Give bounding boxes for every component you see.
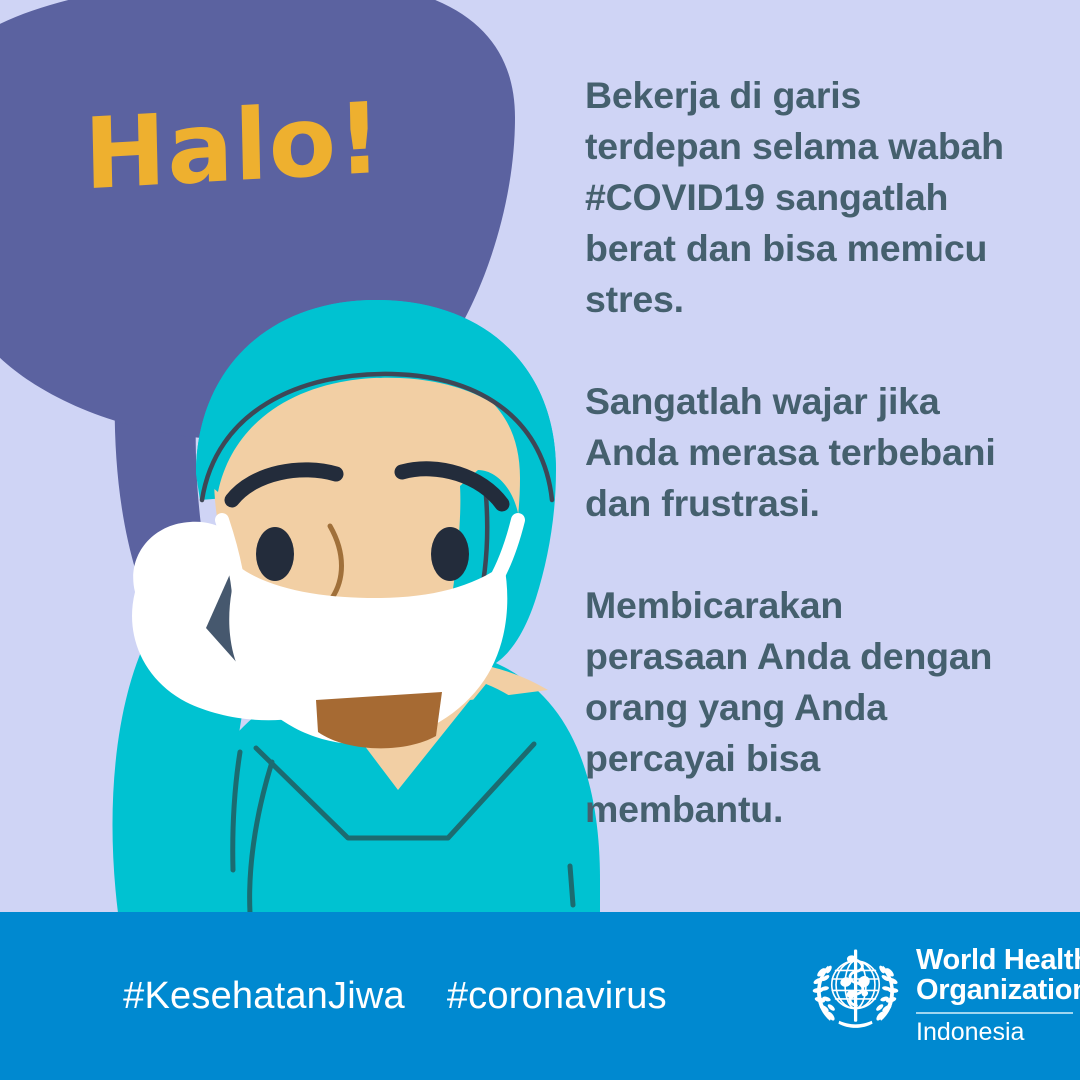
who-country-label: Indonesia	[916, 1019, 1080, 1046]
who-line-2: Organization	[916, 975, 1080, 1005]
speech-bubble-text: Halo!	[83, 90, 383, 205]
shoulder-seam-right	[570, 866, 573, 905]
message-text-column: Bekerja di garis terdepan selama wabah #…	[585, 70, 1045, 835]
who-emblem-icon	[808, 941, 903, 1036]
paragraph-2: Sangatlah wajar jika Anda merasa terbeba…	[585, 376, 1045, 529]
who-wordmark: World Health Organization Indonesia	[916, 939, 1080, 1046]
bottom-banner: #KesehatanJiwa #coronavirus	[0, 912, 1080, 1080]
eye-right	[431, 527, 469, 581]
who-divider	[916, 1012, 1073, 1014]
paragraph-3: Membicarakan perasaan Anda dengan orang …	[585, 580, 1045, 835]
poster-canvas: Halo! Bekerja di garis terdepan selama w…	[0, 0, 1080, 1080]
chin-shadow	[316, 692, 442, 748]
who-logo: World Health Organization Indonesia	[808, 939, 1066, 1057]
who-line-1: World Health	[916, 945, 1080, 975]
hashtag-coronavirus[interactable]: #coronavirus	[447, 975, 667, 1018]
eye-left	[256, 527, 294, 581]
paragraph-1: Bekerja di garis terdepan selama wabah #…	[585, 70, 1045, 325]
hashtag-group: #KesehatanJiwa #coronavirus	[0, 912, 790, 1080]
hashtag-kesehatanjiwa[interactable]: #KesehatanJiwa	[123, 975, 405, 1018]
